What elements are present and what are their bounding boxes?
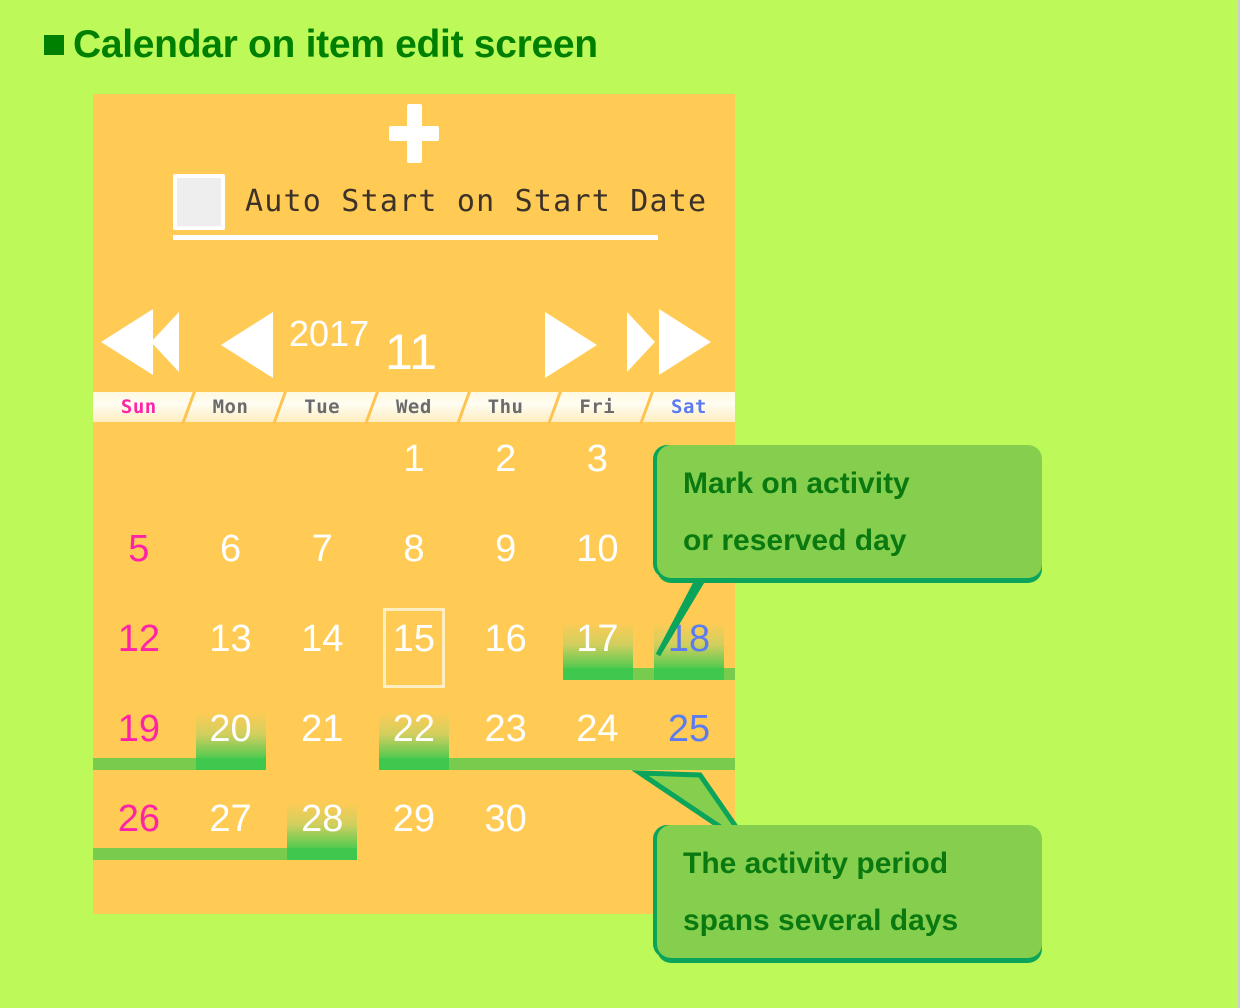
day-number: 2 xyxy=(460,438,552,481)
callout-mark-line-2: or reserved day xyxy=(683,512,1016,569)
activity-mark-foot xyxy=(196,758,266,770)
next-month-button[interactable] xyxy=(545,312,605,378)
auto-start-underline xyxy=(173,235,658,240)
square-bullet-icon xyxy=(44,35,64,55)
weekday-label: Wed xyxy=(396,396,432,418)
day-cell[interactable]: 15 xyxy=(368,604,460,694)
weekday-header-cell: Sun xyxy=(93,392,185,422)
day-row: 12131415161718 xyxy=(93,604,735,694)
auto-start-label: Auto Start on Start Date xyxy=(245,184,707,219)
day-cell[interactable]: 19 xyxy=(93,694,185,784)
day-cell[interactable]: 20 xyxy=(185,694,277,784)
calendar-month-label: 11 xyxy=(385,323,437,381)
day-number: 12 xyxy=(93,618,185,661)
day-number: 9 xyxy=(460,528,552,571)
day-number: 19 xyxy=(93,708,185,751)
weekday-header-cell: Wed xyxy=(368,392,460,422)
day-number: 6 xyxy=(185,528,277,571)
day-number: 13 xyxy=(185,618,277,661)
day-number: 8 xyxy=(368,528,460,571)
activity-mark-foot xyxy=(287,848,357,860)
auto-start-row: Auto Start on Start Date xyxy=(173,174,658,240)
day-cell[interactable]: 28 xyxy=(276,784,368,874)
callout-period-line-2: spans several days xyxy=(683,892,1016,949)
plus-icon-horizontal-bar xyxy=(389,126,439,141)
day-number: 15 xyxy=(368,618,460,661)
day-cell[interactable]: 2 xyxy=(460,424,552,514)
weekday-header: SunMonTueWedThuFriSat xyxy=(93,392,735,422)
day-number: 20 xyxy=(185,708,277,751)
day-cell-empty xyxy=(276,424,368,514)
day-cell[interactable]: 14 xyxy=(276,604,368,694)
page-root: Calendar on item edit screen Auto Start … xyxy=(0,0,1240,1008)
day-number: 17 xyxy=(552,618,644,661)
day-cell[interactable]: 17 xyxy=(552,604,644,694)
next-year-button[interactable] xyxy=(627,309,727,375)
day-cell[interactable]: 6 xyxy=(185,514,277,604)
day-number: 14 xyxy=(276,618,368,661)
day-number: 28 xyxy=(276,798,368,841)
calendar-navigation: 2017 11 xyxy=(93,299,735,384)
weekday-header-cell: Mon xyxy=(185,392,277,422)
day-number: 24 xyxy=(552,708,644,751)
day-cell[interactable]: 12 xyxy=(93,604,185,694)
fast-forward-double-right-icon-small xyxy=(627,312,655,372)
day-cell[interactable]: 21 xyxy=(276,694,368,784)
callout-mark-line-1: Mark on activity xyxy=(683,455,1016,512)
weekday-label: Sun xyxy=(121,396,157,418)
add-item-button[interactable] xyxy=(93,104,735,164)
day-number: 5 xyxy=(93,528,185,571)
day-cell[interactable]: 13 xyxy=(185,604,277,694)
weekday-label: Sat xyxy=(671,396,707,418)
day-number: 26 xyxy=(93,798,185,841)
callout-mark-on-activity: Mark on activity or reserved day xyxy=(657,445,1042,578)
day-cell[interactable]: 27 xyxy=(185,784,277,874)
day-number: 10 xyxy=(552,528,644,571)
rewind-double-left-icon-small xyxy=(151,312,179,372)
day-cell[interactable]: 9 xyxy=(460,514,552,604)
day-cell[interactable]: 10 xyxy=(552,514,644,604)
weekday-header-cell: Thu xyxy=(460,392,552,422)
day-cell[interactable]: 8 xyxy=(368,514,460,604)
day-cell[interactable]: 29 xyxy=(368,784,460,874)
callout-activity-period: The activity period spans several days xyxy=(657,825,1042,958)
page-title-text: Calendar on item edit screen xyxy=(73,25,598,64)
day-cell[interactable]: 30 xyxy=(460,784,552,874)
day-cell-empty xyxy=(93,424,185,514)
day-cell[interactable]: 22 xyxy=(368,694,460,784)
day-number: 22 xyxy=(368,708,460,751)
day-cell[interactable]: 23 xyxy=(460,694,552,784)
weekday-header-cell: Fri xyxy=(551,392,643,422)
day-row: 123 xyxy=(93,424,735,514)
weekday-header-cell: Tue xyxy=(276,392,368,422)
weekday-label: Fri xyxy=(579,396,615,418)
weekday-label: Tue xyxy=(304,396,340,418)
day-number: 16 xyxy=(460,618,552,661)
callout-period-line-1: The activity period xyxy=(683,835,1016,892)
day-row: 5678910 xyxy=(93,514,735,604)
prev-year-button[interactable] xyxy=(101,309,197,375)
day-number: 21 xyxy=(276,708,368,751)
weekday-label: Thu xyxy=(488,396,524,418)
triangle-right-icon xyxy=(545,312,597,378)
day-number: 3 xyxy=(552,438,644,481)
activity-mark-foot xyxy=(379,758,449,770)
day-cell[interactable]: 26 xyxy=(93,784,185,874)
day-cell[interactable]: 3 xyxy=(552,424,644,514)
day-cell[interactable]: 5 xyxy=(93,514,185,604)
day-number: 7 xyxy=(276,528,368,571)
fast-forward-double-right-icon xyxy=(659,309,711,375)
day-cell[interactable]: 7 xyxy=(276,514,368,604)
day-number: 1 xyxy=(368,438,460,481)
prev-month-button[interactable] xyxy=(221,312,281,378)
triangle-left-icon xyxy=(221,312,273,378)
auto-start-checkbox[interactable] xyxy=(173,174,225,230)
day-number: 30 xyxy=(460,798,552,841)
day-cell-empty xyxy=(185,424,277,514)
day-number: 25 xyxy=(643,708,735,751)
page-title: Calendar on item edit screen xyxy=(44,25,598,64)
activity-mark-foot xyxy=(654,668,724,680)
day-cell[interactable]: 16 xyxy=(460,604,552,694)
rewind-double-left-icon xyxy=(101,309,153,375)
day-number: 29 xyxy=(368,798,460,841)
day-number: 23 xyxy=(460,708,552,751)
weekday-label: Mon xyxy=(213,396,249,418)
calendar-year-label: 2017 xyxy=(289,313,369,355)
weekday-header-cell: Sat xyxy=(643,392,735,422)
day-cell[interactable]: 1 xyxy=(368,424,460,514)
day-number: 27 xyxy=(185,798,277,841)
activity-mark-foot xyxy=(563,668,633,680)
